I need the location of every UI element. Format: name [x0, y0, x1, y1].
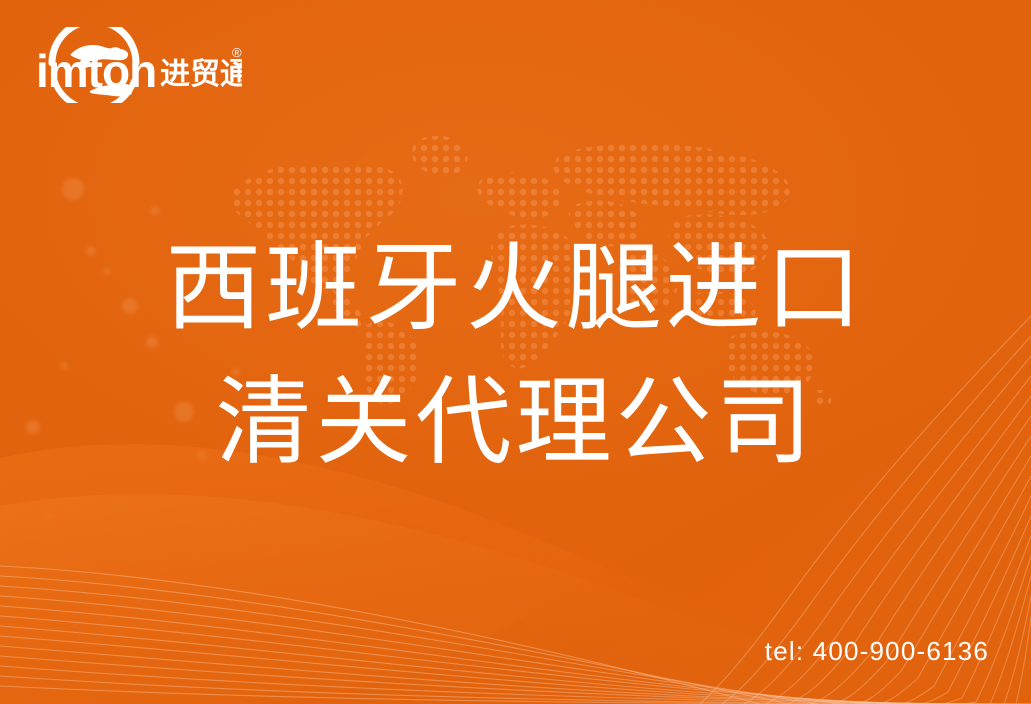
page-title: 西班牙火腿进口 清关代理公司 — [0, 222, 1031, 490]
headline-line-1: 西班牙火腿进口 — [0, 222, 1031, 356]
contact-phone[interactable]: tel: 400-900-6136 — [765, 636, 989, 667]
logo-chinese-name: 进贸通 — [160, 58, 242, 91]
logo-wordmark: imton — [36, 45, 156, 97]
headline-line-2: 清关代理公司 — [0, 356, 1031, 490]
logo-trademark-icon: ® — [232, 45, 242, 60]
promo-banner: imton 进贸通 ® 西班牙火腿进口 清关代理公司 tel: 400-900-… — [0, 0, 1031, 704]
imton-logo[interactable]: imton 进贸通 ® — [36, 27, 242, 103]
